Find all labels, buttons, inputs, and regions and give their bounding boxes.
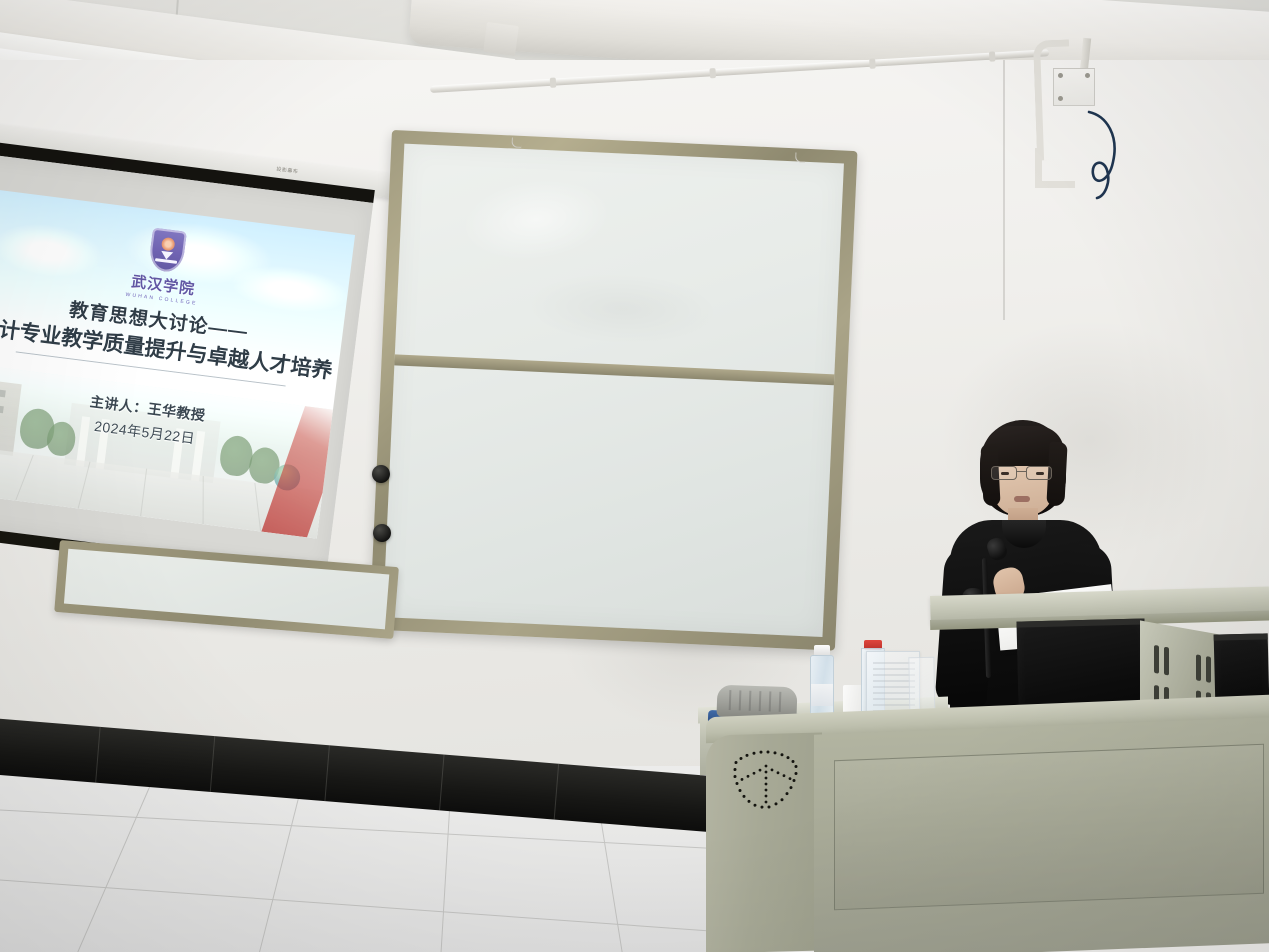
wall-junction-box bbox=[1053, 68, 1095, 106]
whiteboard bbox=[369, 130, 857, 651]
conduit-bend-lower bbox=[1035, 148, 1075, 188]
whiteboard-magnet bbox=[372, 465, 390, 483]
eyeglasses-icon bbox=[988, 466, 1058, 482]
eraser-ridge bbox=[739, 690, 742, 710]
whiteboard-magnet bbox=[373, 524, 391, 542]
lectern-podium bbox=[706, 724, 1269, 952]
monitor-bezel bbox=[1214, 633, 1268, 640]
junction-box-screw bbox=[1058, 73, 1063, 78]
projection-screen: 武汉学院 WUHAN COLLEGE 教育思想大讨论—— 会计专业教学质量提升与… bbox=[0, 140, 375, 597]
conduit-clip bbox=[989, 51, 996, 61]
plaza-paving-line bbox=[203, 476, 204, 524]
slide-cloud bbox=[227, 260, 352, 319]
wuhan-college-logo: 武汉学院 WUHAN COLLEGE bbox=[125, 225, 206, 307]
conduit-clip bbox=[869, 59, 876, 69]
ceiling-beam-end-cap bbox=[483, 22, 519, 56]
wall-seam bbox=[1003, 60, 1005, 320]
eye-right bbox=[1036, 472, 1044, 475]
whiteboard-surface bbox=[383, 144, 844, 637]
plaza-paving-line bbox=[254, 483, 261, 531]
bracket-vent-slot bbox=[1206, 656, 1211, 683]
eraser-ridge bbox=[769, 691, 772, 711]
whiteboard-hook bbox=[795, 152, 805, 162]
screen-housing-label: 投影幕布 bbox=[276, 166, 299, 176]
cube-dot-logo-icon bbox=[726, 745, 808, 818]
whiteboard-glare bbox=[457, 170, 616, 269]
junction-box-screw bbox=[1058, 96, 1063, 101]
screen-surface: 武汉学院 WUHAN COLLEGE 教育思想大讨论—— 会计专业教学质量提升与… bbox=[0, 153, 373, 572]
bracket-vent-slot bbox=[1164, 647, 1169, 676]
junction-box-screw bbox=[1085, 73, 1090, 78]
baseboard-seam bbox=[95, 727, 100, 783]
bracket-vent-slot bbox=[1196, 654, 1201, 681]
plaza-paving-line bbox=[78, 462, 91, 509]
glasses-lens-left bbox=[991, 466, 1017, 480]
baseboard-seam bbox=[554, 764, 559, 820]
podium-door-panel bbox=[834, 744, 1264, 911]
whiteboard-hook bbox=[511, 137, 521, 147]
conduit-clip bbox=[709, 68, 716, 78]
plaza-paving-line bbox=[140, 469, 147, 517]
baseboard-seam bbox=[210, 736, 215, 792]
mouth bbox=[1014, 496, 1030, 502]
shield-bar-icon bbox=[155, 258, 177, 264]
glasses-bridge bbox=[1017, 471, 1027, 472]
lecture-hall-scene: 投影幕布 bbox=[0, 0, 1269, 952]
dangling-cable-icon bbox=[1085, 110, 1127, 202]
plaza-paving-line bbox=[15, 455, 33, 500]
whiteboard-smudge bbox=[526, 269, 719, 348]
shield-crest-icon bbox=[148, 228, 187, 274]
eraser-ridge bbox=[729, 690, 732, 710]
shield-flower-icon bbox=[161, 237, 176, 252]
baseboard-seam bbox=[439, 754, 444, 810]
eraser-ridge bbox=[779, 692, 782, 712]
glasses-lens-right bbox=[1026, 466, 1052, 480]
eraser-ridge bbox=[759, 691, 762, 711]
slide-cloud bbox=[0, 218, 106, 283]
water-bottle-label bbox=[811, 684, 833, 706]
baseboard-seam bbox=[324, 745, 329, 801]
presentation-slide: 武汉学院 WUHAN COLLEGE 教育思想大讨论—— 会计专业教学质量提升与… bbox=[0, 189, 355, 539]
eraser-ridge bbox=[749, 691, 752, 711]
eye-left bbox=[1001, 472, 1009, 475]
conduit-clip bbox=[550, 78, 557, 88]
bracket-vent-slot bbox=[1154, 645, 1159, 674]
